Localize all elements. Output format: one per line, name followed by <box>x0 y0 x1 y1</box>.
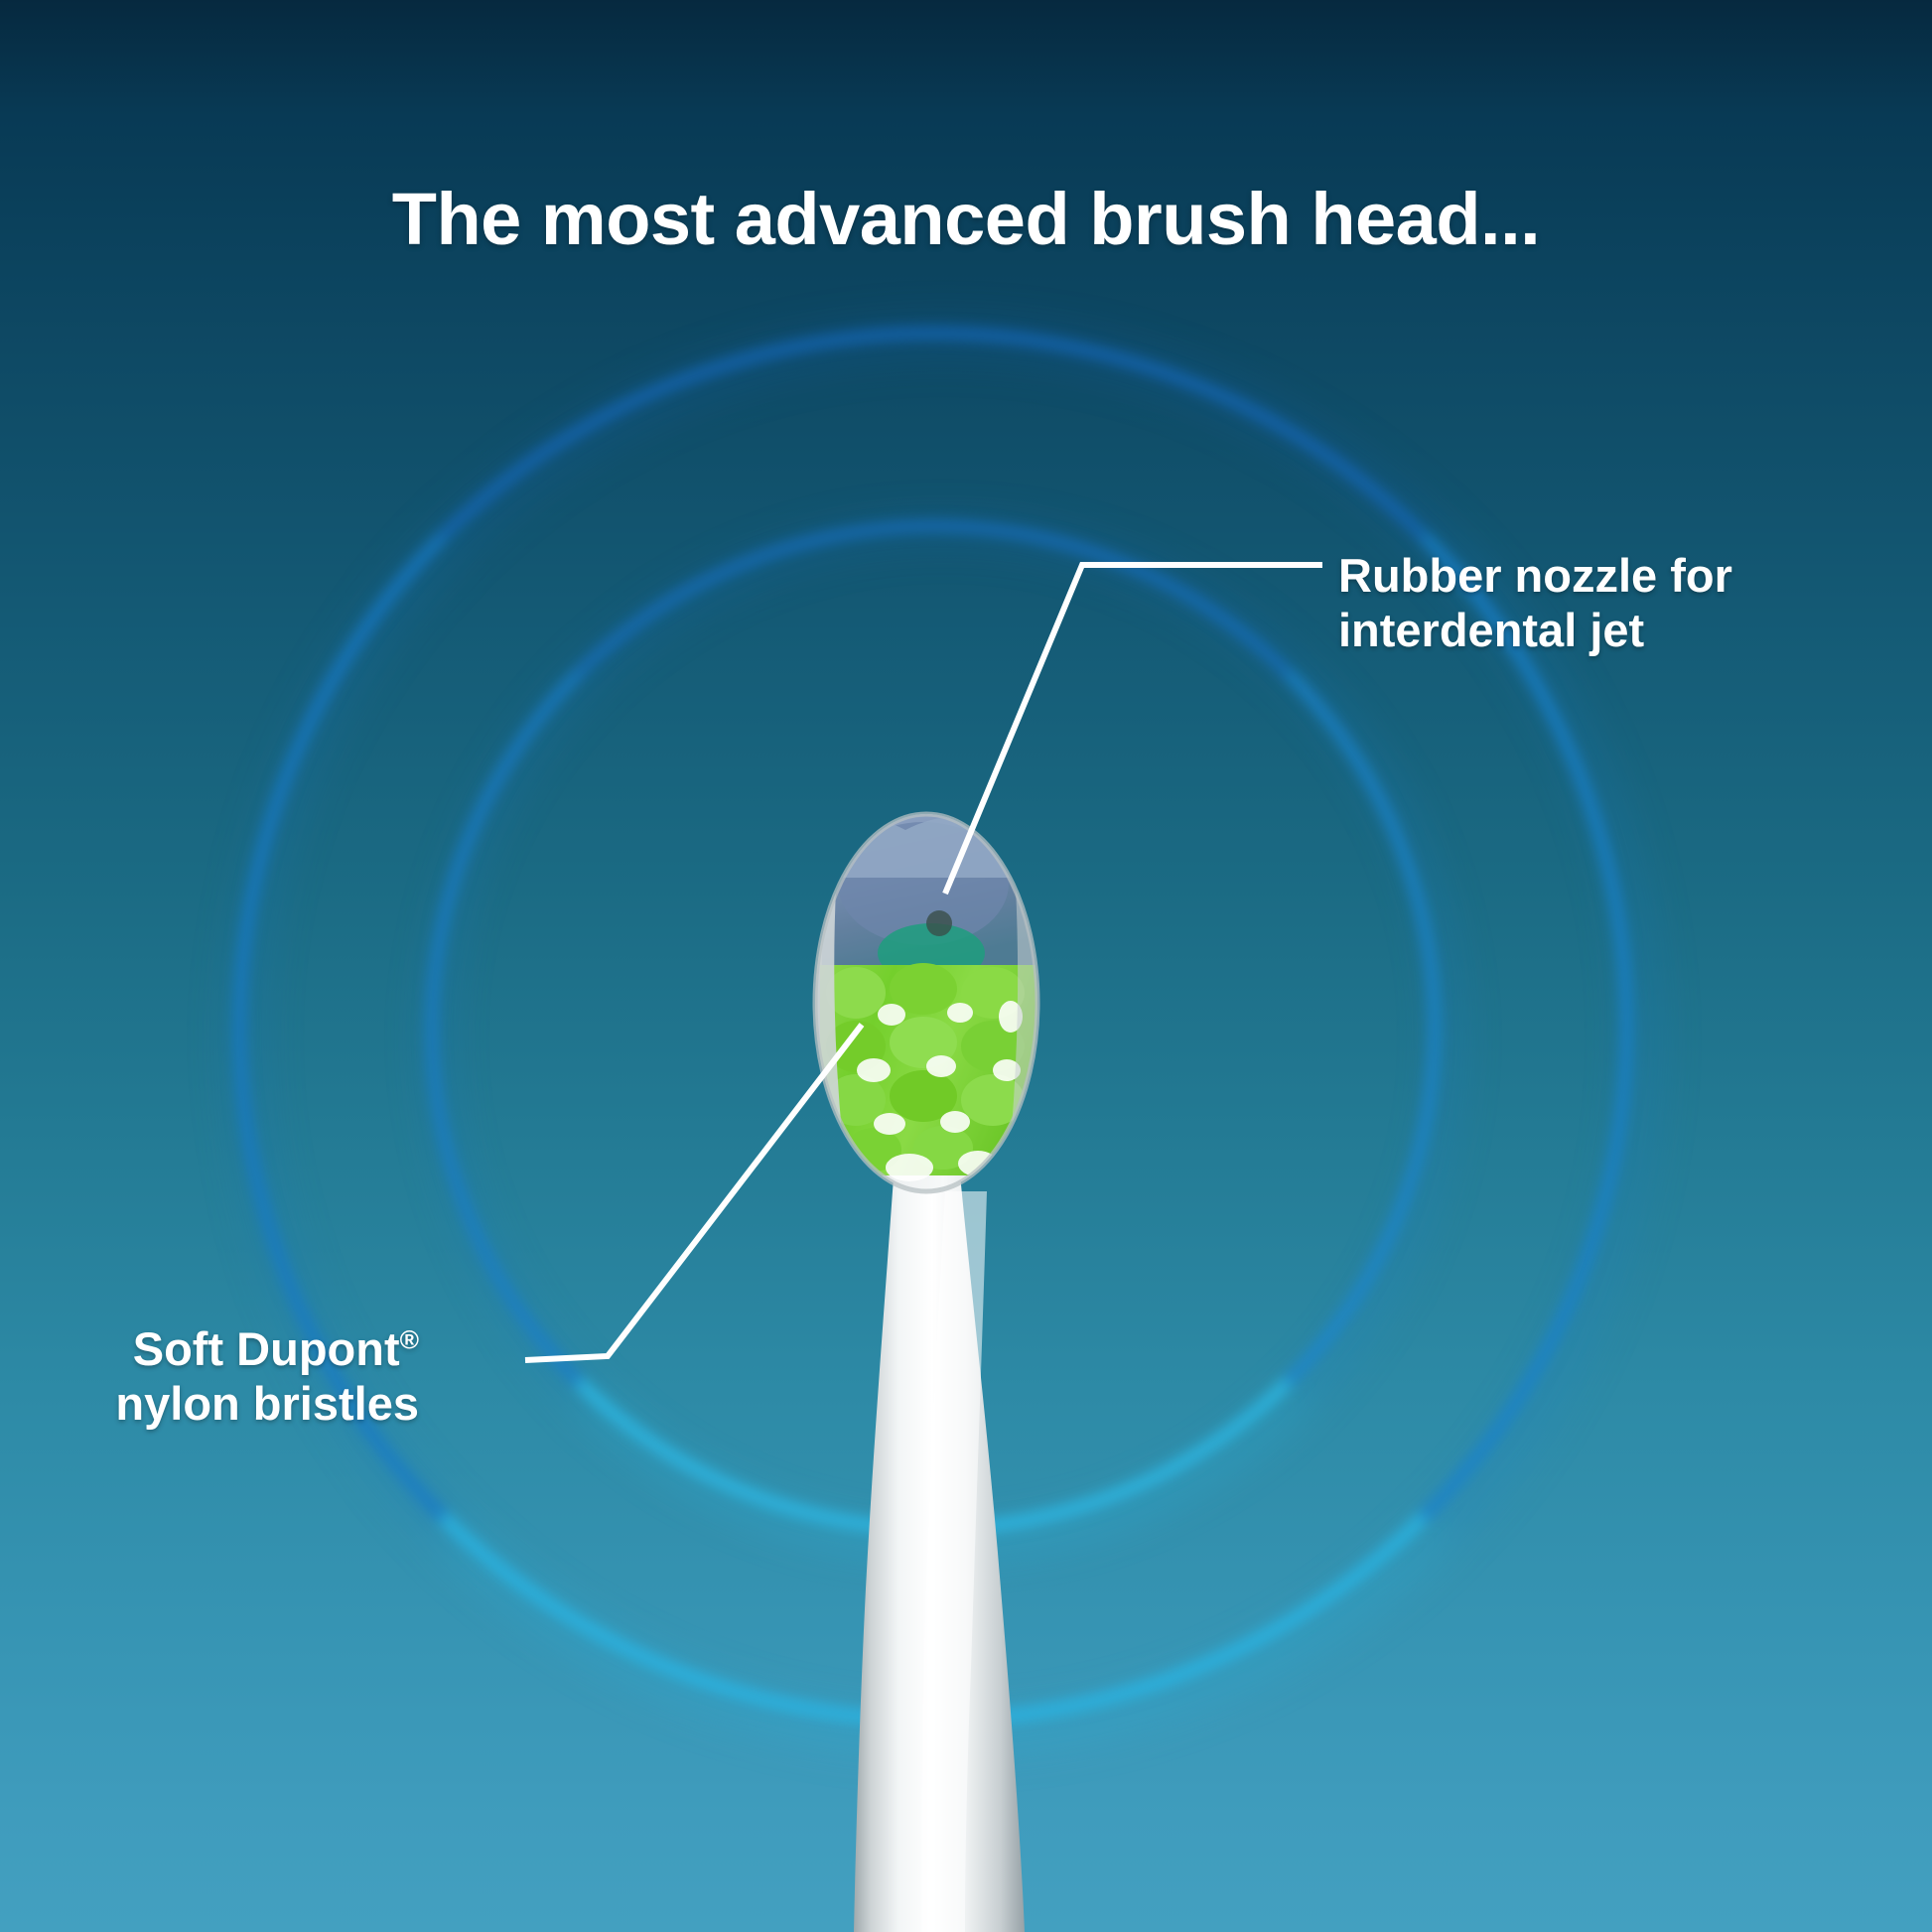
callout-nylon-bristles-line1: Soft Dupont® <box>115 1322 419 1377</box>
toothbrush-illustration <box>0 0 1932 1932</box>
callout-rubber-nozzle-line2: interdental jet <box>1338 604 1732 658</box>
leader-line-nylon-bristles <box>525 1025 862 1360</box>
callout-rubber-nozzle: Rubber nozzle for interdental jet <box>1338 549 1732 658</box>
callout-rubber-nozzle-line1: Rubber nozzle for <box>1338 549 1732 604</box>
nozzle-jet-hole <box>926 910 952 936</box>
nozzle-texture <box>824 817 1040 878</box>
page-title: The most advanced brush head... <box>0 177 1932 261</box>
infographic-canvas: The most advanced brush head... Rubber n… <box>0 0 1932 1932</box>
callout-nylon-bristles-line2: nylon bristles <box>115 1377 419 1432</box>
registered-trademark-icon: ® <box>400 1324 419 1354</box>
callout-nylon-bristles: Soft Dupont® nylon bristles <box>115 1322 419 1432</box>
callout-nylon-bristles-brand: Soft Dupont <box>133 1322 400 1375</box>
leader-line-rubber-nozzle <box>945 565 1322 894</box>
